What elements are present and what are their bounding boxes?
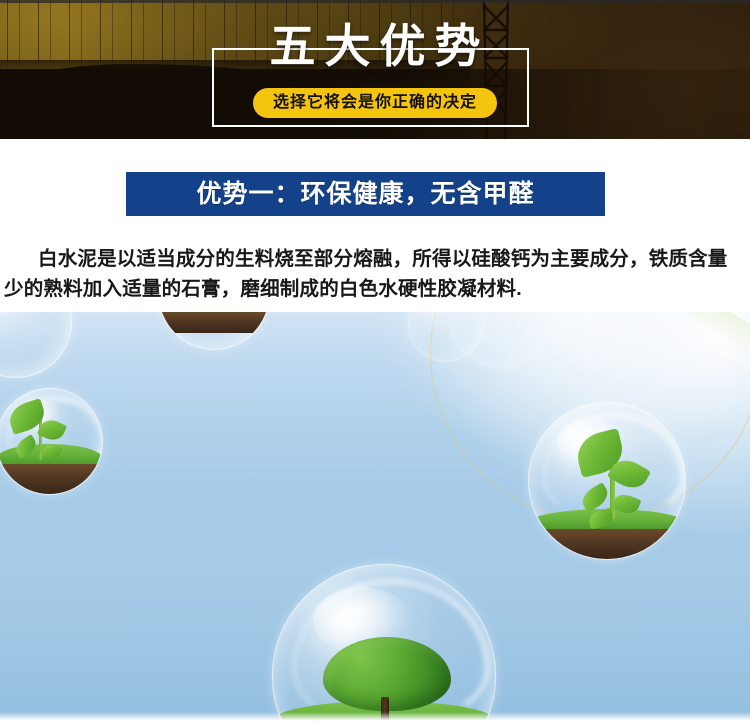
banner-top-strip [0,0,750,3]
section-heading-text: 优势一：环保健康，无含甲醛 [196,179,534,209]
soil [529,529,685,559]
section-paragraph: 白水泥是以适当成分的生料烧至部分熔融，所得以硅酸钙为主要成分，铁质含量少的熟料加… [0,244,750,304]
bubble-sprout-left [0,388,103,495]
banner-title: 五大优势 [0,22,750,72]
section-heading-bar: 优势一：环保健康，无含甲醛 [126,172,605,216]
banner: 五大优势 选择它将会是你正确的决定 [0,0,750,139]
bubble-sprout-right [528,402,686,560]
sprout-plant [7,394,79,460]
soil [0,464,102,494]
photo-bottom-fade [0,712,750,722]
sprout-plant [563,419,663,519]
leaf [41,443,62,461]
eco-photo [0,312,750,722]
leaf [611,491,642,517]
island [159,312,269,333]
leaf [13,434,40,459]
product-detail-page: 五大优势 选择它将会是你正确的决定 优势一：环保健康，无含甲醛 白水泥是以适当成… [0,0,750,722]
section-heading-zone: 优势一：环保健康，无含甲醛 [0,139,750,224]
banner-subtitle-pill: 选择它将会是你正确的决定 [253,88,497,118]
banner-subtitle-container: 选择它将会是你正确的决定 [0,88,750,118]
soil [159,312,269,333]
